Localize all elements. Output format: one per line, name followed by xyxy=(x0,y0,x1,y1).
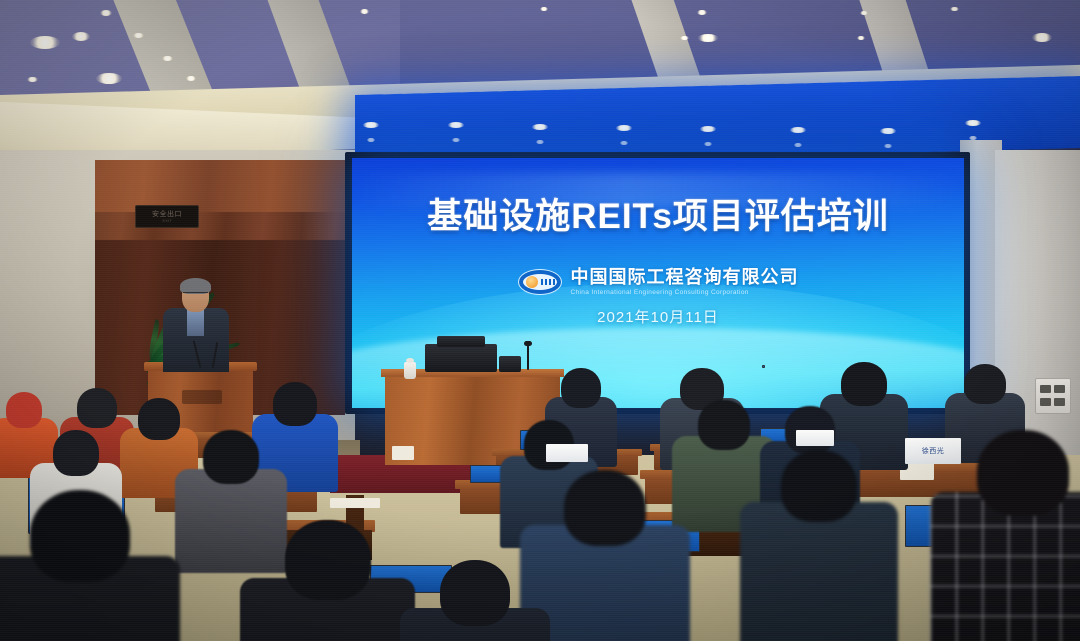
ciecc-logo-icon xyxy=(518,269,562,295)
downlight-icon xyxy=(1032,33,1052,42)
audience-member-foreground xyxy=(400,560,550,641)
slide-date: 2021年10月11日 xyxy=(352,306,964,327)
speaker-person xyxy=(163,280,229,372)
person-head xyxy=(273,382,317,426)
person-head xyxy=(203,430,259,484)
laptop-screen xyxy=(762,365,765,368)
name-placard: 徐西光 xyxy=(905,438,961,464)
downlight-icon xyxy=(540,7,548,11)
cove-spotlight-icon xyxy=(616,125,632,131)
name-placard xyxy=(796,430,834,446)
person-head xyxy=(138,398,180,440)
cove-spotlight-icon xyxy=(884,144,892,148)
cove-spotlight-icon xyxy=(965,120,981,126)
cove-spotlight-icon xyxy=(790,127,806,133)
downlight-icon xyxy=(698,34,718,42)
person-head xyxy=(6,392,42,428)
organization-name-cn: 中国国际工程咨询有限公司 xyxy=(571,268,799,288)
downlight-icon xyxy=(857,36,865,40)
person-head xyxy=(977,430,1069,516)
water-cup xyxy=(404,362,416,379)
audience-member-foreground xyxy=(240,520,415,641)
cove-spotlight-icon xyxy=(367,138,375,142)
downlight-icon xyxy=(100,10,112,16)
person-head xyxy=(53,430,99,476)
person-torso xyxy=(740,502,898,641)
wall-switch-panel[interactable] xyxy=(1035,378,1071,414)
person-head xyxy=(77,388,117,428)
person-head xyxy=(781,450,857,522)
downlight-icon xyxy=(360,9,369,14)
downlight-icon xyxy=(186,76,196,81)
audience-member-foreground xyxy=(0,490,180,641)
cove-spotlight-icon xyxy=(448,122,464,128)
audience-member-foreground xyxy=(740,450,898,641)
person-head xyxy=(30,490,130,582)
downlight-icon xyxy=(950,7,959,11)
downlight-icon xyxy=(680,36,689,40)
name-placard-text: 徐西光 xyxy=(922,446,945,456)
exit-sign-label-cn: 安全出口 xyxy=(152,211,182,218)
downlight-icon xyxy=(27,77,38,82)
downlight-icon xyxy=(72,32,90,41)
cove-spotlight-icon xyxy=(704,142,712,146)
paper-document xyxy=(392,446,414,460)
slide-organization-block: 中国国际工程咨询有限公司 China International Enginee… xyxy=(352,268,964,296)
person-head xyxy=(440,560,510,626)
downlight-icon xyxy=(133,33,144,38)
downlight-icon xyxy=(96,73,122,84)
cove-spotlight-icon xyxy=(452,138,460,142)
cove-spotlight-icon xyxy=(363,122,379,128)
table-microphone xyxy=(527,344,529,370)
person-head xyxy=(964,364,1006,404)
person-head xyxy=(564,470,646,546)
cove-spotlight-icon xyxy=(536,140,544,144)
cove-spotlight-icon xyxy=(700,126,716,132)
exit-sign: 安全出口 EXIT xyxy=(135,205,199,228)
slide-title: 基础设施REITs项目评估培训 xyxy=(352,188,964,239)
name-placard xyxy=(546,444,588,462)
person-head xyxy=(561,368,601,408)
wood-wall-panel-top xyxy=(95,160,345,212)
downlight-icon xyxy=(30,36,60,49)
cove-spotlight-icon xyxy=(794,143,802,147)
table-microphone xyxy=(524,341,532,346)
photo-scene: 安全出口 EXIT 基础设施REITs项目评估培训 中国国际工程咨询有限公司 C… xyxy=(0,0,1080,641)
av-equipment xyxy=(425,344,497,372)
exit-sign-label-en: EXIT xyxy=(163,219,172,223)
organization-name-en: China International Engineering Consulti… xyxy=(571,290,799,297)
av-equipment xyxy=(437,336,485,347)
av-equipment xyxy=(499,356,521,372)
person-head xyxy=(285,520,371,600)
downlight-icon xyxy=(162,56,173,61)
downlight-icon xyxy=(697,10,707,15)
cove-spotlight-icon xyxy=(880,128,896,134)
cove-spotlight-icon xyxy=(532,124,548,130)
downlight-icon xyxy=(860,11,868,15)
person-head xyxy=(698,400,750,450)
cove-spotlight-icon xyxy=(620,141,628,145)
person-head xyxy=(841,362,887,406)
